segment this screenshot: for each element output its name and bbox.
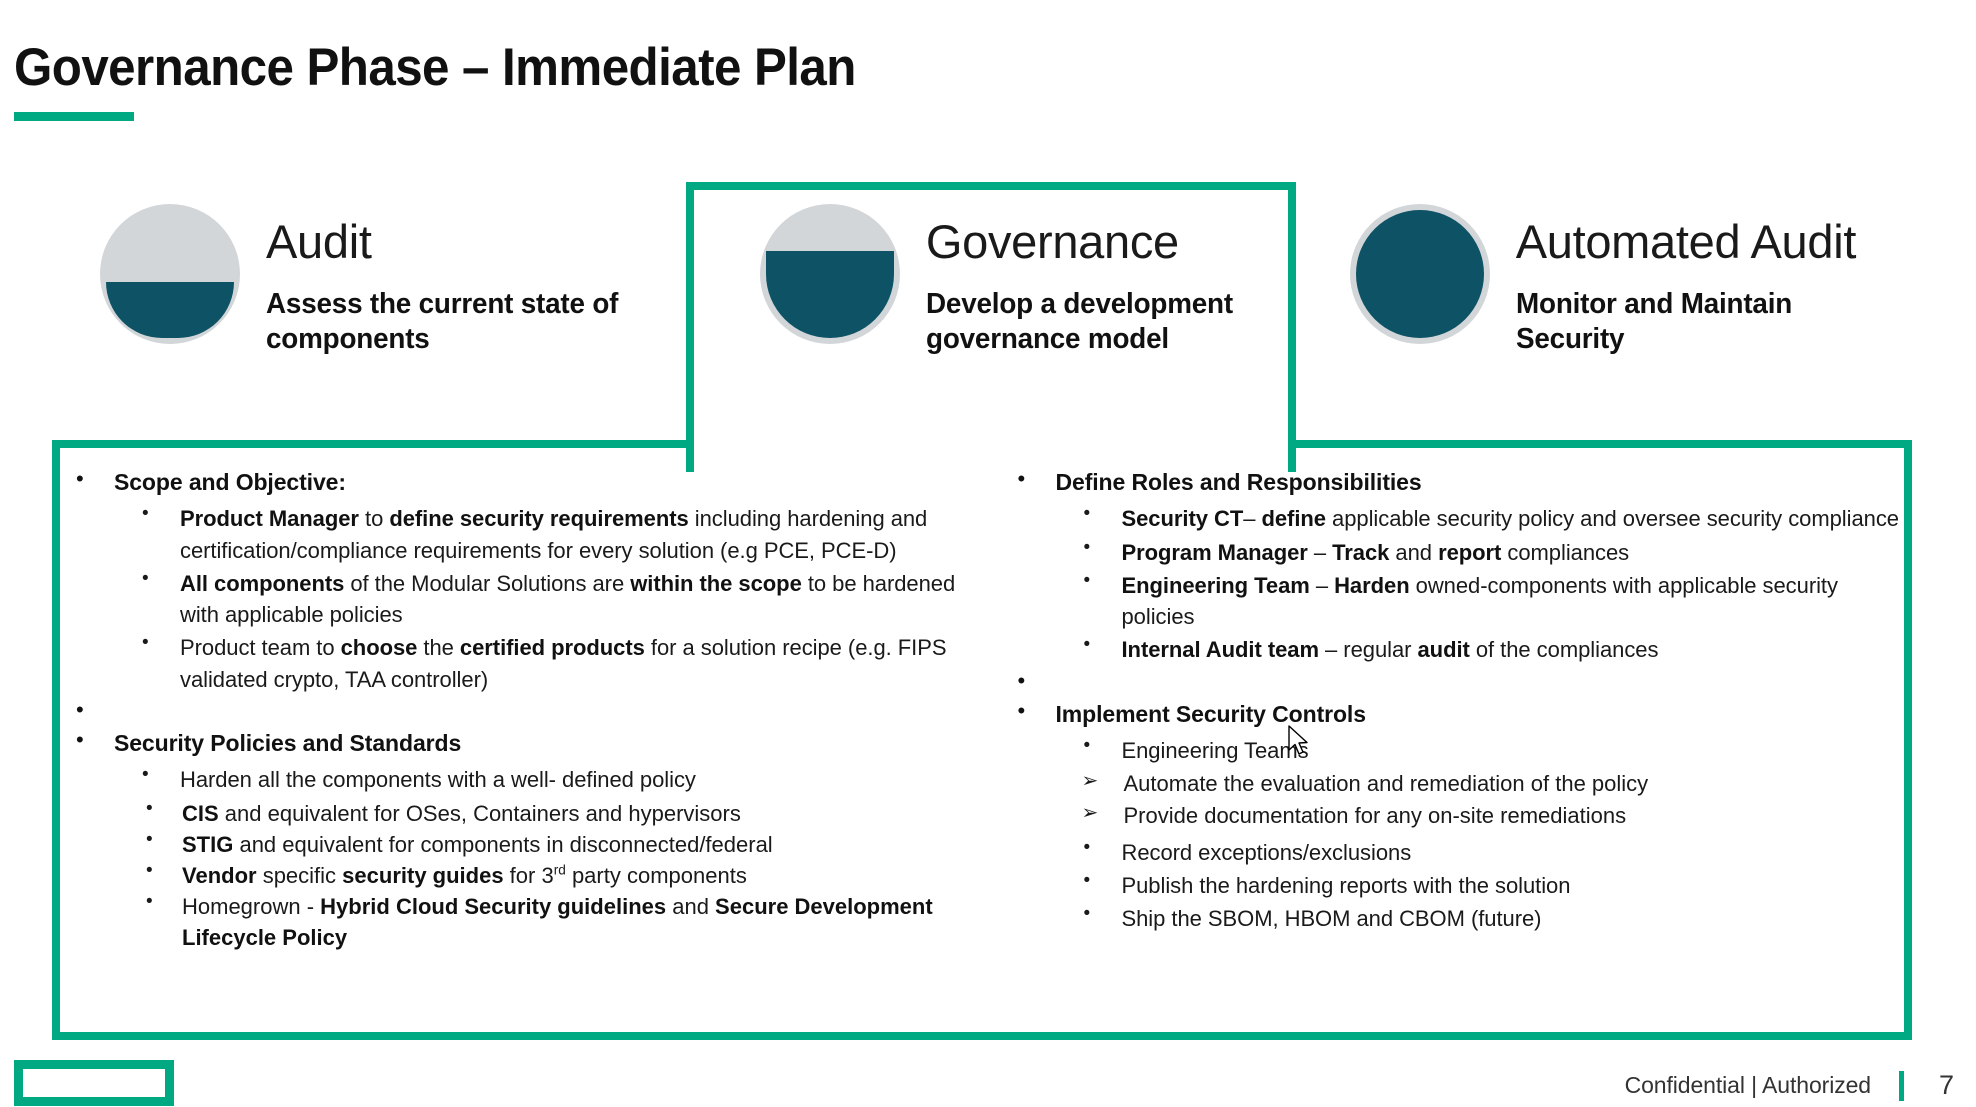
section-heading: Implement Security Controls: [1056, 700, 1908, 729]
full-filled-circle-icon: [1350, 204, 1490, 344]
bullet-text: Homegrown - Hybrid Cloud Security guidel…: [182, 894, 933, 950]
slide-canvas: Governance Phase – Immediate Plan Audit …: [0, 0, 1976, 1107]
page-number: 7: [1932, 1070, 1954, 1101]
list-item: Security Policies and Standards Harden a…: [62, 729, 966, 954]
list-item: Ship the SBOM, HBOM and CBOM (future): [1056, 903, 1908, 934]
bullet-text: Harden all the components with a well- d…: [180, 767, 696, 792]
section-heading: Define Roles and Responsibilities: [1056, 468, 1908, 497]
bullet-text: Vendor specific security guides for 3rd …: [182, 863, 747, 888]
phase-audit-text: Audit Assess the current state of compon…: [266, 200, 656, 358]
list-item: Provide documentation for any on-site re…: [1056, 800, 1908, 831]
phase-automated-audit-name: Automated Audit: [1516, 218, 1876, 265]
spacer: [62, 699, 966, 729]
bullet-text: All components of the Modular Solutions …: [180, 571, 955, 627]
page-title: Governance Phase – Immediate Plan: [14, 40, 1316, 96]
sublist: Engineering Teams: [1056, 735, 1908, 766]
bullet-text: Record exceptions/exclusions: [1122, 840, 1412, 865]
section-heading: Security Policies and Standards: [114, 729, 966, 758]
right-column-list: Define Roles and Responsibilities Securi…: [1004, 468, 1908, 934]
body-columns: Scope and Objective: Product Manager to …: [62, 468, 1907, 1033]
list-item: CIS and equivalent for OSes, Containers …: [114, 798, 966, 829]
list-item: Program Manager – Track and report compl…: [1056, 537, 1908, 568]
list-item: Automate the evaluation and remediation …: [1056, 768, 1908, 799]
list-item: Product Manager to define security requi…: [114, 503, 966, 565]
bullet-text: Engineering Team – Harden owned-componen…: [1122, 573, 1838, 629]
bullet-text: Ship the SBOM, HBOM and CBOM (future): [1122, 906, 1542, 931]
phase-governance-name: Governance: [926, 218, 1306, 265]
phase-automated-audit-text: Automated Audit Monitor and Maintain Sec…: [1516, 200, 1876, 358]
list-item: Scope and Objective: Product Manager to …: [62, 468, 966, 695]
bullet-text: Automate the evaluation and remediation …: [1124, 771, 1649, 796]
spacer: [1004, 670, 1908, 700]
phase-governance[interactable]: Governance Develop a development governa…: [732, 200, 1322, 440]
bullet-text: Security CT– define applicable security …: [1122, 506, 1899, 531]
bullet-text: Internal Audit team – regular audit of t…: [1122, 637, 1659, 662]
phase-audit-subtitle: Assess the current state of components: [266, 287, 640, 358]
bullet-text: STIG and equivalent for components in di…: [182, 832, 773, 857]
list-item: Record exceptions/exclusions: [1056, 837, 1908, 868]
list-item: Define Roles and Responsibilities Securi…: [1004, 468, 1908, 666]
phase-audit[interactable]: Audit Assess the current state of compon…: [0, 200, 732, 440]
left-column-list: Scope and Objective: Product Manager to …: [62, 468, 966, 954]
arrow-sublist: Automate the evaluation and remediation …: [1056, 768, 1908, 830]
half-filled-circle-icon: [100, 204, 240, 344]
bullet-text: Product team to choose the certified pro…: [180, 635, 946, 691]
bullet-text: Product Manager to define security requi…: [180, 506, 927, 562]
section-heading: Scope and Objective:: [114, 468, 966, 497]
list-item: Harden all the components with a well- d…: [114, 764, 966, 795]
list-item: Publish the hardening reports with the s…: [1056, 870, 1908, 901]
list-item: Product team to choose the certified pro…: [114, 632, 966, 694]
bullet-text: Program Manager – Track and report compl…: [1122, 540, 1630, 565]
phase-automated-audit[interactable]: Automated Audit Monitor and Maintain Sec…: [1322, 200, 1976, 440]
phase-governance-subtitle: Develop a development governance model: [926, 287, 1291, 358]
hpe-logo: [14, 1060, 174, 1106]
footer: Confidential | Authorized 7: [1625, 1070, 1954, 1101]
phase-audit-name: Audit: [266, 218, 656, 265]
bullet-text: CIS and equivalent for OSes, Containers …: [182, 801, 741, 826]
phase-row: Audit Assess the current state of compon…: [0, 200, 1976, 440]
footer-divider: [1899, 1071, 1904, 1101]
list-item: Implement Security Controls Engineering …: [1004, 700, 1908, 935]
list-item: Engineering Teams: [1056, 735, 1908, 766]
list-item: Homegrown - Hybrid Cloud Security guidel…: [114, 891, 966, 953]
list-item: STIG and equivalent for components in di…: [114, 829, 966, 860]
list-item: Security CT– define applicable security …: [1056, 503, 1908, 534]
confidentiality-label: Confidential | Authorized: [1625, 1072, 1871, 1099]
sublist: Product Manager to define security requi…: [114, 503, 966, 694]
sublist: Harden all the components with a well- d…: [114, 764, 966, 795]
list-item: Engineering Team – Harden owned-componen…: [1056, 570, 1908, 632]
phase-governance-text: Governance Develop a development governa…: [926, 200, 1306, 358]
subsublist: CIS and equivalent for OSes, Containers …: [114, 798, 966, 954]
list-item: Vendor specific security guides for 3rd …: [114, 860, 966, 891]
phase-automated-audit-subtitle: Monitor and Maintain Security: [1516, 287, 1862, 358]
title-accent-rule: [14, 112, 134, 121]
bullet-text: Engineering Teams: [1122, 738, 1309, 763]
right-column: Define Roles and Responsibilities Securi…: [966, 468, 1908, 1033]
tail-sublist: Record exceptions/exclusions Publish the…: [1056, 837, 1908, 935]
list-item: All components of the Modular Solutions …: [114, 568, 966, 630]
sublist: Security CT– define applicable security …: [1056, 503, 1908, 665]
two-thirds-filled-circle-icon: [760, 204, 900, 344]
bullet-text: Publish the hardening reports with the s…: [1122, 873, 1571, 898]
bullet-text: Provide documentation for any on-site re…: [1124, 803, 1627, 828]
title-block: Governance Phase – Immediate Plan: [14, 40, 1414, 121]
list-item: Internal Audit team – regular audit of t…: [1056, 634, 1908, 665]
left-column: Scope and Objective: Product Manager to …: [62, 468, 966, 1033]
